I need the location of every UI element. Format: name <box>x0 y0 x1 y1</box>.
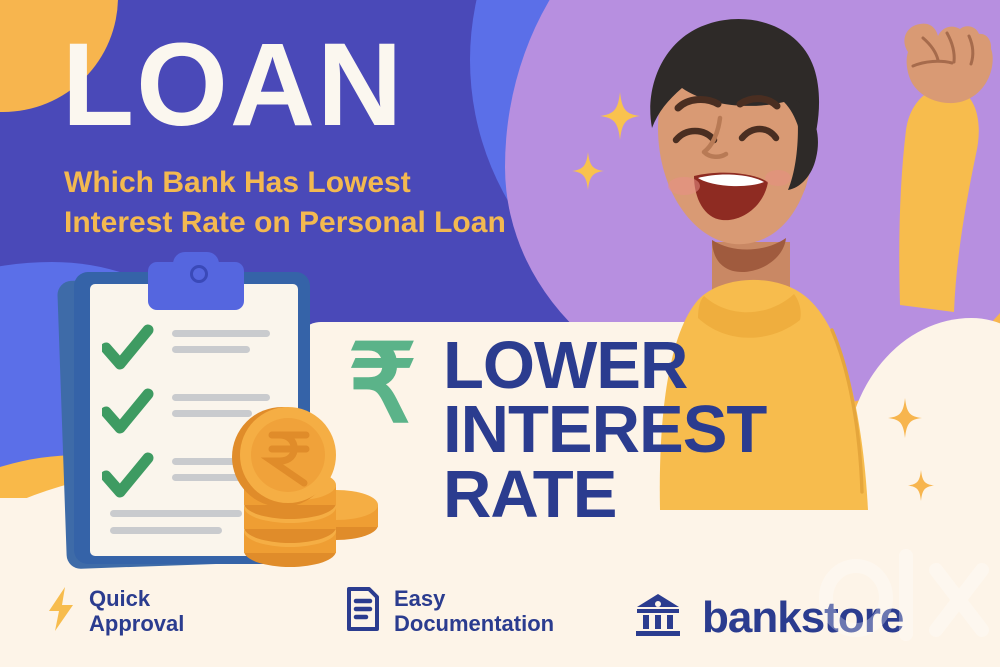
document-icon <box>345 586 381 637</box>
page-title: LOAN <box>62 26 404 144</box>
lightning-bolt-icon <box>46 586 76 637</box>
subtitle-line-2: Interest Rate on Personal Loan <box>64 203 534 243</box>
checkmark-icon-group <box>102 324 162 514</box>
main-headline-line-3: RATE <box>443 463 766 527</box>
rupee-coin-stack-illustration <box>228 405 368 565</box>
main-headline-line-2: INTEREST <box>443 398 766 462</box>
feature-row: Quick Approval Easy Documentation <box>0 576 1000 667</box>
subtitle: Which Bank Has Lowest Interest Rate on P… <box>64 163 534 243</box>
feature-easy-documentation: Easy Documentation <box>345 586 554 637</box>
feature-quick-approval: Quick Approval <box>46 586 184 637</box>
feature-label-line-2: Approval <box>89 612 184 637</box>
main-headline: LOWER INTEREST RATE <box>443 334 766 527</box>
feature-label-line-2: Documentation <box>394 612 554 637</box>
rupee-symbol: ₹ <box>348 330 417 438</box>
loan-promo-banner: LOAN Which Bank Has Lowest Interest Rate… <box>0 0 1000 667</box>
clipboard-text-lines <box>172 330 270 353</box>
bank-building-icon <box>634 592 682 643</box>
clipboard-clip-hole <box>190 265 208 283</box>
clipboard-text-lines <box>110 510 242 534</box>
subtitle-line-1: Which Bank Has Lowest <box>64 163 534 203</box>
brand-name: bankstore <box>702 593 903 643</box>
main-headline-line-1: LOWER <box>443 334 766 398</box>
feature-label: Easy Documentation <box>394 587 554 636</box>
feature-label-line-1: Quick <box>89 587 184 612</box>
feature-label-line-1: Easy <box>394 587 554 612</box>
feature-label: Quick Approval <box>89 587 184 636</box>
brand-logo[interactable]: bankstore <box>634 592 903 643</box>
